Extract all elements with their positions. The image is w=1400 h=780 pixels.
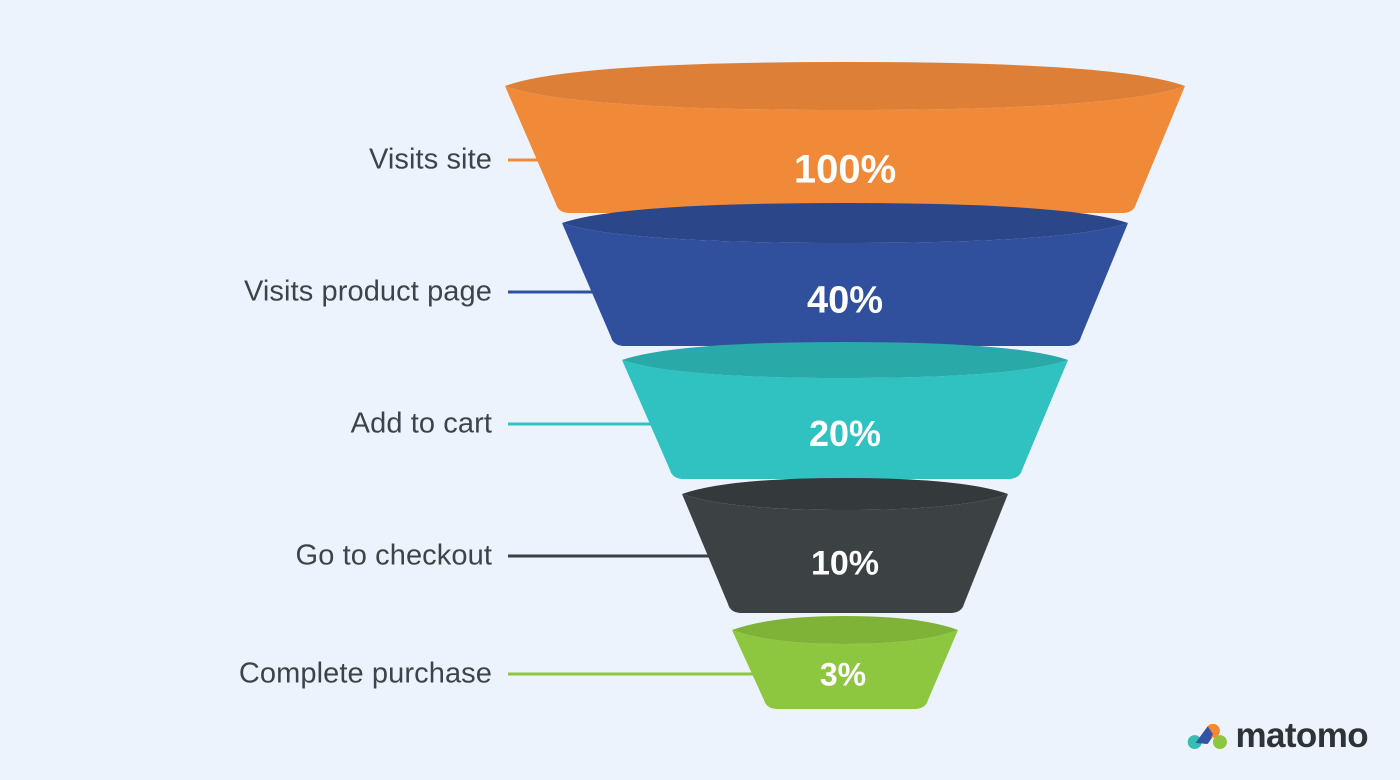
funnel-label-visits-product-page: Visits product page [120, 276, 492, 309]
matomo-mark-icon [1186, 718, 1229, 754]
funnel-chart: Visits site Visits product page Add to c… [0, 0, 1400, 780]
funnel-label-go-to-checkout: Go to checkout [120, 540, 492, 573]
funnel-label-complete-purchase: Complete purchase [120, 658, 492, 691]
funnel-value-complete-purchase: 3% [820, 657, 866, 694]
funnel-label-add-to-cart: Add to cart [120, 408, 492, 441]
segment-rim-1 [505, 62, 1185, 110]
funnel-segment-visits-product-page[interactable] [562, 203, 1128, 346]
funnel-value-add-to-cart: 20% [809, 413, 881, 455]
matomo-wordmark: matomo [1235, 716, 1368, 756]
funnel-label-visits-site: Visits site [120, 144, 492, 177]
funnel-value-visits-product-page: 40% [807, 280, 883, 323]
funnel-value-visits-site: 100% [794, 148, 896, 193]
matomo-logo: matomo [1186, 714, 1368, 758]
funnel-segment-add-to-cart[interactable] [622, 342, 1068, 479]
funnel-value-go-to-checkout: 10% [811, 545, 879, 584]
